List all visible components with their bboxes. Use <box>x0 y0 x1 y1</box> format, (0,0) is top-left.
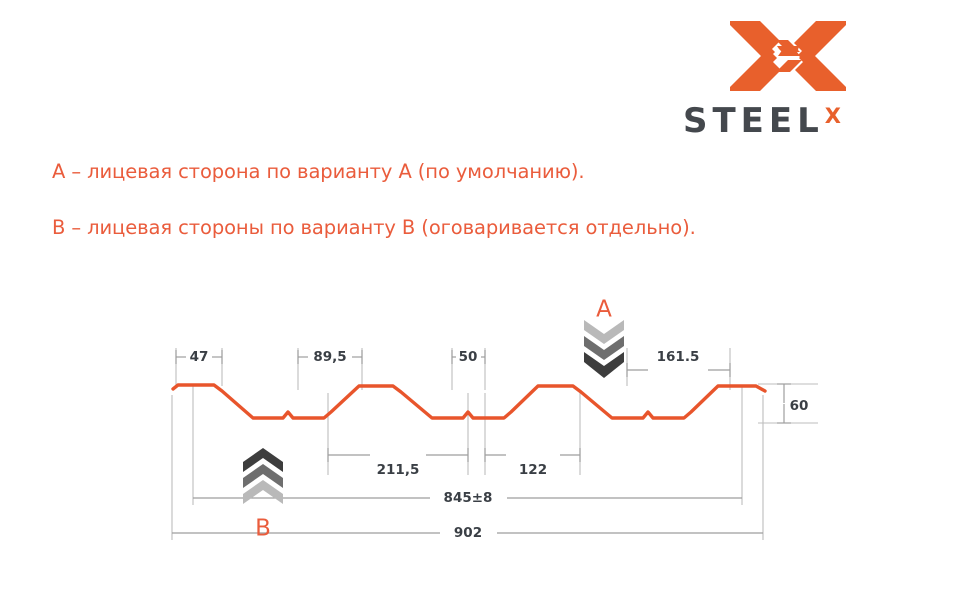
dimension-label-50: 50 <box>459 349 478 365</box>
dimension-label-161-5: 161.5 <box>657 349 700 365</box>
dimension-label-47: 47 <box>190 349 209 365</box>
extension-lines <box>172 348 818 540</box>
profile-cross-section-drawing: 47 89,5 50 161.5 211,5 122 845±8 902 60 … <box>0 0 970 597</box>
dimension-label-89-5: 89,5 <box>313 349 346 365</box>
marker-b-label: B <box>255 516 271 542</box>
dimension-label-845: 845±8 <box>444 490 493 506</box>
marker-a-label: A <box>596 297 612 323</box>
marker-b: B <box>243 448 283 542</box>
dimension-label-902: 902 <box>454 525 482 541</box>
marker-a: A <box>584 297 624 379</box>
steel-profile-outline <box>173 385 765 418</box>
dimension-label-211-5: 211,5 <box>377 462 420 478</box>
dimension-label-122: 122 <box>519 462 547 478</box>
dimension-label-60: 60 <box>790 398 809 414</box>
